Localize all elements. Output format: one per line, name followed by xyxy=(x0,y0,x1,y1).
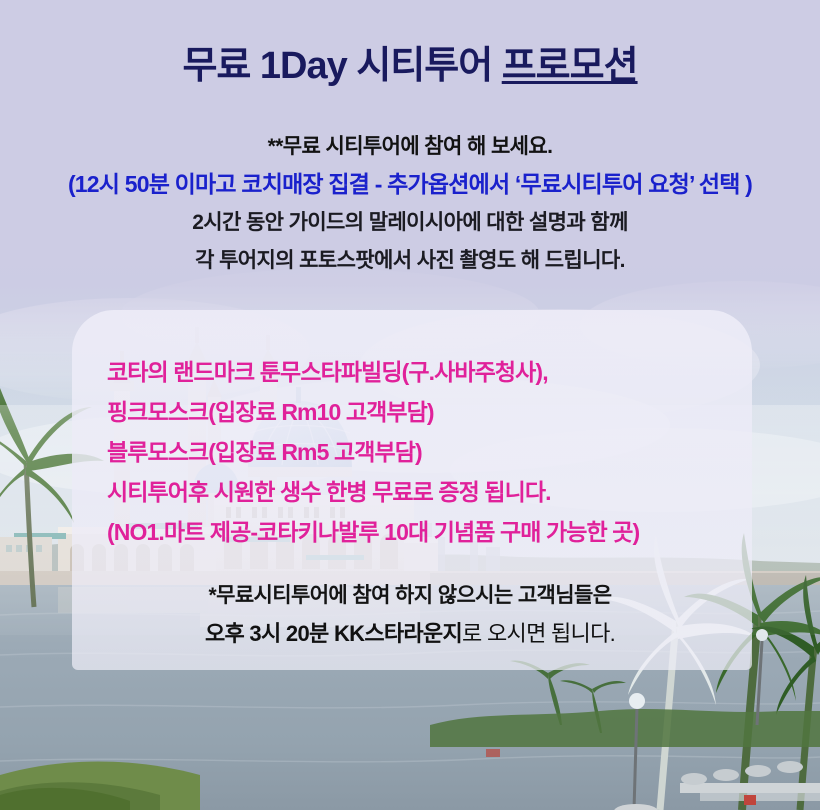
list-item: (NO1.마트 제공-코타키나발루 10대 기념품 구매 가능한 곳) xyxy=(107,512,727,552)
list-item: 핑크모스크(입장료 Rm10 고객부담) xyxy=(107,392,727,432)
closing-note-block: *무료시티투어에 참여 하지 않으시는 고객님들은 오후 3시 20분 KK스타… xyxy=(0,578,820,654)
intro-line-1: **무료 시티투어에 참여 해 보세요. xyxy=(0,130,820,164)
intro-line-3: 2시간 동안 가이드의 말레이시아에 대한 설명과 함께 xyxy=(0,204,820,242)
list-item: 블루모스크(입장료 Rm5 고객부담) xyxy=(107,432,727,472)
list-item: 시티투어후 시원한 생수 한병 무료로 증정 됩니다. xyxy=(107,472,727,512)
promotion-poster: 무료 1Day 시티투어 프로모션 **무료 시티투어에 참여 해 보세요. (… xyxy=(0,0,820,810)
intro-text-block: **무료 시티투어에 참여 해 보세요. (12시 50분 이마고 코치매장 집… xyxy=(0,130,820,280)
page-title-underlined: 프로모션 xyxy=(502,45,638,87)
page-title-lead: 무료 1Day 시티투어 xyxy=(182,45,501,87)
closing-line-2-rest: 로 오시면 됩니다. xyxy=(462,621,615,646)
closing-meeting-point: 오후 3시 20분 KK스타라운지 xyxy=(205,621,462,646)
tour-highlights-list: 코타의 랜드마크 툰무스타파빌딩(구.사바주청사), 핑크모스크(입장료 Rm1… xyxy=(107,352,727,552)
page-title: 무료 1Day 시티투어 프로모션 xyxy=(0,34,820,89)
closing-line-2: 오후 3시 20분 KK스타라운지로 오시면 됩니다. xyxy=(0,614,820,654)
closing-line-1: *무료시티투어에 참여 하지 않으시는 고객님들은 xyxy=(0,578,820,614)
intro-line-2-meeting-info: (12시 50분 이마고 코치매장 집결 - 추가옵션에서 ‘무료시티투어 요청… xyxy=(0,164,820,204)
intro-line-4: 각 투어지의 포토스팟에서 사진 촬영도 해 드립니다. xyxy=(0,242,820,280)
list-item: 코타의 랜드마크 툰무스타파빌딩(구.사바주청사), xyxy=(107,352,727,392)
